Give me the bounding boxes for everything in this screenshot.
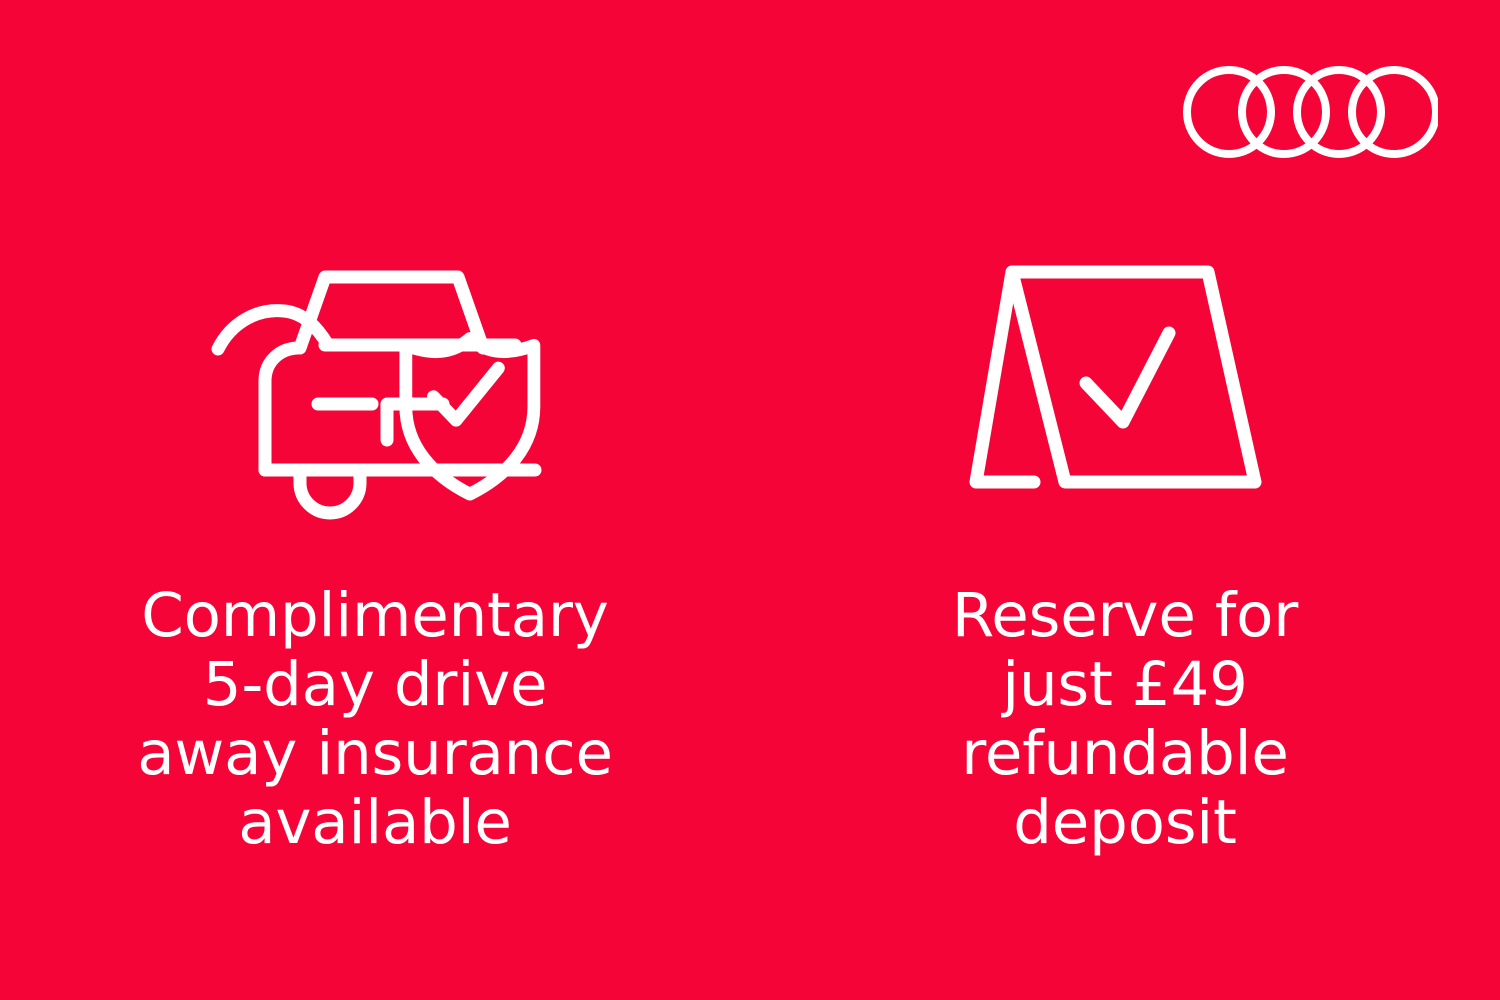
tent-card-check-icon [955,250,1295,508]
feature-caption: Reserve for just £49 refundable deposit [952,582,1298,858]
offer-banner: Complimentary 5-day drive away insurance… [0,0,1500,1000]
feature-caption: Complimentary 5-day drive away insurance… [137,582,613,858]
feature-item-deposit: Reserve for just £49 refundable deposit [750,0,1500,858]
car-shield-insurance-icon [205,250,545,508]
feature-list: Complimentary 5-day drive away insurance… [0,0,1500,1000]
feature-item-insurance: Complimentary 5-day drive away insurance… [0,0,750,858]
